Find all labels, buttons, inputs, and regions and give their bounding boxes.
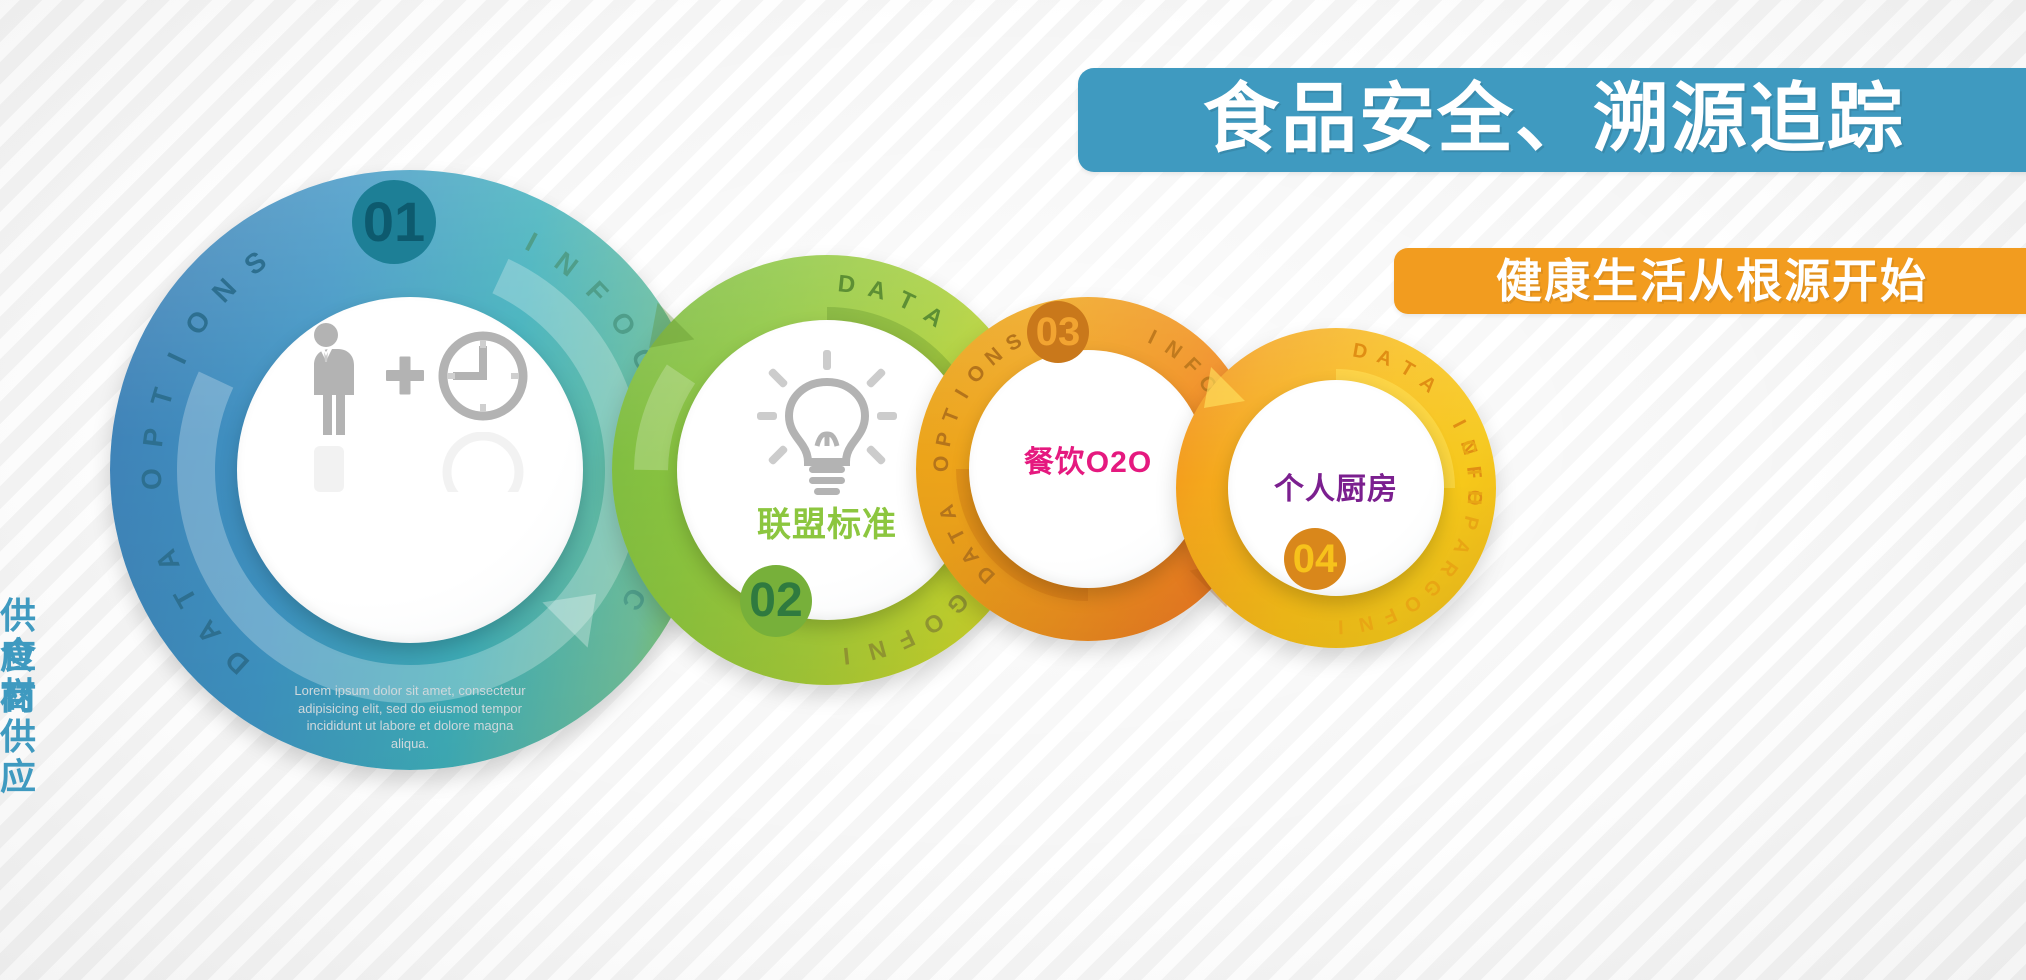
businessman-plus-clock-icon [290, 322, 530, 438]
lightbulb-icon [757, 350, 897, 496]
node-04-title: 个人厨房 [1176, 473, 1496, 507]
page-title: 食品安全、溯源追踪 [1078, 68, 2026, 172]
node-03-badge: 03 [1027, 301, 1089, 363]
node-01-body-text: Lorem ipsum dolor sit amet, consectetur … [292, 682, 528, 752]
node-01-badge: 01 [352, 180, 436, 264]
node-02-badge: 02 [740, 565, 812, 637]
node-01-icon-reflection [237, 432, 583, 492]
node-01-icon-group [237, 320, 583, 440]
page-subtitle: 健康生活从根源开始 [1394, 248, 2026, 314]
node-04-badge: 04 [1284, 528, 1346, 590]
